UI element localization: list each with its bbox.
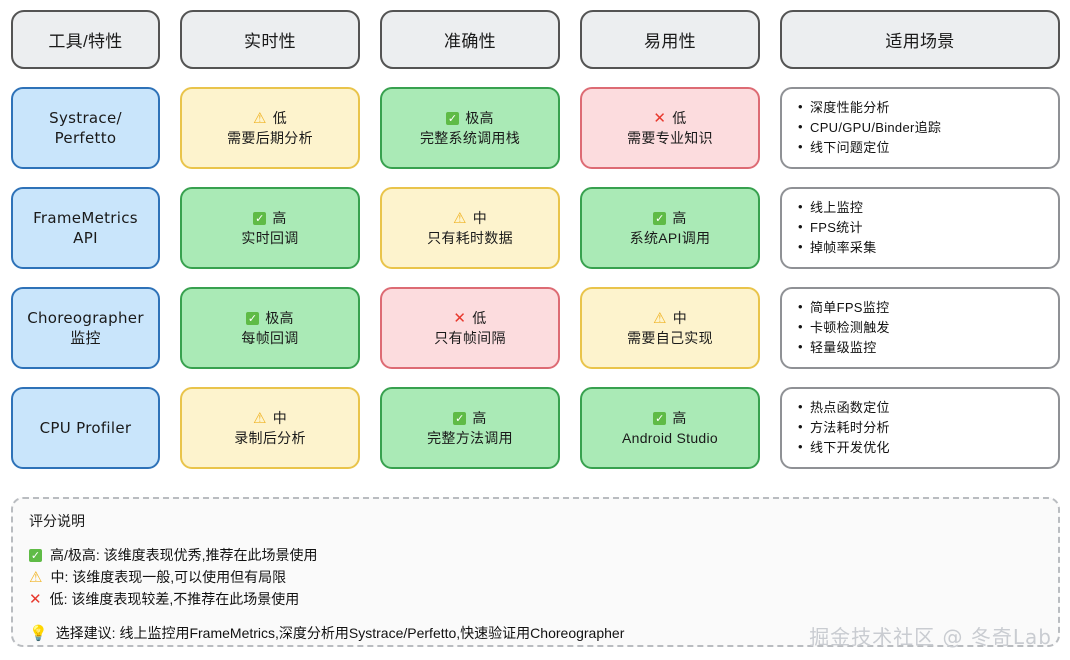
warning-icon: ⚠ xyxy=(29,570,42,585)
column-header-accuracy: 准确性 xyxy=(380,10,560,69)
scenario-list: 线上监控FPS统计掉帧率采集 xyxy=(796,198,1044,258)
usability-cell[interactable]: ✕低需要专业知识 xyxy=(580,87,760,169)
scenario-item: 掉帧率采集 xyxy=(796,238,1044,258)
usability-cell-level-text: 高 xyxy=(672,410,686,427)
accuracy-cell[interactable]: ✓高完整方法调用 xyxy=(380,387,560,469)
bulb-icon: 💡 xyxy=(29,624,48,642)
scenario-item: 线上监控 xyxy=(796,198,1044,218)
legend-line: ⚠中: 该维度表现一般,可以使用但有局限 xyxy=(29,566,1042,588)
check-icon: ✓ xyxy=(253,212,266,225)
tool-name-line: Systrace/ xyxy=(49,108,122,128)
scenario-list: 热点函数定位方法耗时分析线下开发优化 xyxy=(796,398,1044,458)
tool-name-line: 监控 xyxy=(70,328,101,348)
scenario-item: FPS统计 xyxy=(796,218,1044,238)
scenarios-cell[interactable]: 热点函数定位方法耗时分析线下开发优化 xyxy=(780,387,1060,469)
usability-cell-detail: 系统API调用 xyxy=(630,230,711,247)
scenario-list: 深度性能分析CPU/GPU/Binder追踪线下问题定位 xyxy=(796,98,1044,158)
accuracy-cell[interactable]: ⚠中只有耗时数据 xyxy=(380,187,560,269)
legend-line-text: 中: 该维度表现一般,可以使用但有局限 xyxy=(50,566,286,588)
usability-cell-level: ✓高 xyxy=(653,210,686,227)
scenario-item: 线下问题定位 xyxy=(796,138,1044,158)
column-header-accuracy-label: 准确性 xyxy=(444,27,496,52)
tool-name-cell[interactable]: Systrace/Perfetto xyxy=(11,87,160,169)
realtime-cell[interactable]: ✓高实时回调 xyxy=(180,187,360,269)
tool-name-cell[interactable]: FrameMetricsAPI xyxy=(11,187,160,269)
usability-cell-level: ✓高 xyxy=(653,410,686,427)
column-header-usability-label: 易用性 xyxy=(644,27,696,52)
scenario-item: 线下开发优化 xyxy=(796,438,1044,458)
comparison-grid: 工具/特性 实时性 准确性 易用性 适用场景 Systrace/Perfetto… xyxy=(11,10,1060,469)
accuracy-cell-detail: 只有帧间隔 xyxy=(434,330,506,347)
column-header-tool: 工具/特性 xyxy=(11,10,160,69)
cross-icon: ✕ xyxy=(653,111,666,126)
accuracy-cell[interactable]: ✓极高完整系统调用栈 xyxy=(380,87,560,169)
usability-cell-level-text: 中 xyxy=(673,310,687,327)
legend-line-text: 高/极高: 该维度表现优秀,推荐在此场景使用 xyxy=(50,544,318,566)
usability-cell-level: ✕低 xyxy=(653,110,686,127)
column-header-scenarios-label: 适用场景 xyxy=(885,27,954,52)
column-header-tool-label: 工具/特性 xyxy=(48,27,122,52)
check-icon: ✓ xyxy=(453,412,466,425)
legend-title: 评分说明 xyxy=(29,511,1042,531)
legend-line: ✓高/极高: 该维度表现优秀,推荐在此场景使用 xyxy=(29,544,1042,566)
cross-icon: ✕ xyxy=(29,592,42,607)
scenario-item: 卡顿检测触发 xyxy=(796,318,1044,338)
accuracy-cell-level-text: 低 xyxy=(472,310,486,327)
tool-name-cell[interactable]: Choreographer监控 xyxy=(11,287,160,369)
usability-cell-detail: 需要专业知识 xyxy=(627,130,713,147)
accuracy-cell-level: ✕低 xyxy=(453,310,486,327)
realtime-cell-level-text: 极高 xyxy=(265,310,294,327)
tool-name-line: CPU Profiler xyxy=(40,418,132,438)
watermark: 掘金技术社区 @ 冬奇Lab xyxy=(809,621,1052,650)
accuracy-cell-level: ✓极高 xyxy=(446,110,494,127)
realtime-cell-level: ⚠低 xyxy=(253,110,287,127)
tool-name-line: FrameMetrics xyxy=(33,208,138,228)
accuracy-cell-level-text: 极高 xyxy=(465,110,494,127)
check-icon: ✓ xyxy=(29,549,42,562)
tool-name-line: API xyxy=(73,228,98,248)
warning-icon: ⚠ xyxy=(453,211,467,226)
scenarios-cell[interactable]: 深度性能分析CPU/GPU/Binder追踪线下问题定位 xyxy=(780,87,1060,169)
warning-icon: ⚠ xyxy=(253,111,267,126)
legend-line: ✕低: 该维度表现较差,不推荐在此场景使用 xyxy=(29,588,1042,610)
accuracy-cell-level-text: 高 xyxy=(472,410,486,427)
check-icon: ✓ xyxy=(653,412,666,425)
scenario-item: 简单FPS监控 xyxy=(796,298,1044,318)
realtime-cell[interactable]: ⚠中录制后分析 xyxy=(180,387,360,469)
usability-cell[interactable]: ✓高系统API调用 xyxy=(580,187,760,269)
accuracy-cell-detail: 完整方法调用 xyxy=(427,430,513,447)
accuracy-cell-detail: 完整系统调用栈 xyxy=(420,130,520,147)
tool-name-line: Choreographer xyxy=(27,308,144,328)
tool-name-line: Perfetto xyxy=(55,128,117,148)
scenario-item: 热点函数定位 xyxy=(796,398,1044,418)
warning-icon: ⚠ xyxy=(253,411,267,426)
usability-cell-level: ⚠中 xyxy=(653,310,687,327)
scenario-list: 简单FPS监控卡顿检测触发轻量级监控 xyxy=(796,298,1044,358)
warning-icon: ⚠ xyxy=(653,311,667,326)
column-header-usability: 易用性 xyxy=(580,10,760,69)
realtime-cell-detail: 实时回调 xyxy=(241,230,298,247)
check-icon: ✓ xyxy=(446,112,459,125)
realtime-cell-level-text: 中 xyxy=(273,410,287,427)
accuracy-cell-level: ✓高 xyxy=(453,410,486,427)
scenario-item: CPU/GPU/Binder追踪 xyxy=(796,118,1044,138)
realtime-cell-level-text: 低 xyxy=(273,110,287,127)
realtime-cell-detail: 录制后分析 xyxy=(234,430,306,447)
column-header-scenarios: 适用场景 xyxy=(780,10,1060,69)
scenarios-cell[interactable]: 线上监控FPS统计掉帧率采集 xyxy=(780,187,1060,269)
comparison-table-board: 工具/特性 实时性 准确性 易用性 适用场景 Systrace/Perfetto… xyxy=(0,0,1070,660)
scenario-item: 方法耗时分析 xyxy=(796,418,1044,438)
legend-tip-text: 选择建议: 线上监控用FrameMetrics,深度分析用Systrace/Pe… xyxy=(56,623,625,643)
usability-cell-level-text: 高 xyxy=(672,210,686,227)
accuracy-cell[interactable]: ✕低只有帧间隔 xyxy=(380,287,560,369)
tool-name-cell[interactable]: CPU Profiler xyxy=(11,387,160,469)
realtime-cell-level: ✓高 xyxy=(253,210,286,227)
realtime-cell-level-text: 高 xyxy=(272,210,286,227)
accuracy-cell-detail: 只有耗时数据 xyxy=(427,230,513,247)
realtime-cell-level: ✓极高 xyxy=(246,310,294,327)
check-icon: ✓ xyxy=(246,312,259,325)
cross-icon: ✕ xyxy=(453,311,466,326)
legend-line-text: 低: 该维度表现较差,不推荐在此场景使用 xyxy=(50,588,300,610)
realtime-cell[interactable]: ⚠低需要后期分析 xyxy=(180,87,360,169)
realtime-cell[interactable]: ✓极高每帧回调 xyxy=(180,287,360,369)
usability-cell-detail: 需要自己实现 xyxy=(627,330,713,347)
accuracy-cell-level-text: 中 xyxy=(473,210,487,227)
legend-line-list: ✓高/极高: 该维度表现优秀,推荐在此场景使用⚠中: 该维度表现一般,可以使用但… xyxy=(29,544,1042,610)
usability-cell[interactable]: ⚠中需要自己实现 xyxy=(580,287,760,369)
usability-cell-level-text: 低 xyxy=(672,110,686,127)
scenario-item: 轻量级监控 xyxy=(796,338,1044,358)
scenarios-cell[interactable]: 简单FPS监控卡顿检测触发轻量级监控 xyxy=(780,287,1060,369)
realtime-cell-detail: 每帧回调 xyxy=(241,330,298,347)
column-header-realtime-label: 实时性 xyxy=(244,27,296,52)
accuracy-cell-level: ⚠中 xyxy=(453,210,487,227)
realtime-cell-level: ⚠中 xyxy=(253,410,287,427)
scenario-item: 深度性能分析 xyxy=(796,98,1044,118)
usability-cell-detail: Android Studio xyxy=(622,430,718,447)
column-header-realtime: 实时性 xyxy=(180,10,360,69)
check-icon: ✓ xyxy=(653,212,666,225)
usability-cell[interactable]: ✓高Android Studio xyxy=(580,387,760,469)
realtime-cell-detail: 需要后期分析 xyxy=(227,130,313,147)
